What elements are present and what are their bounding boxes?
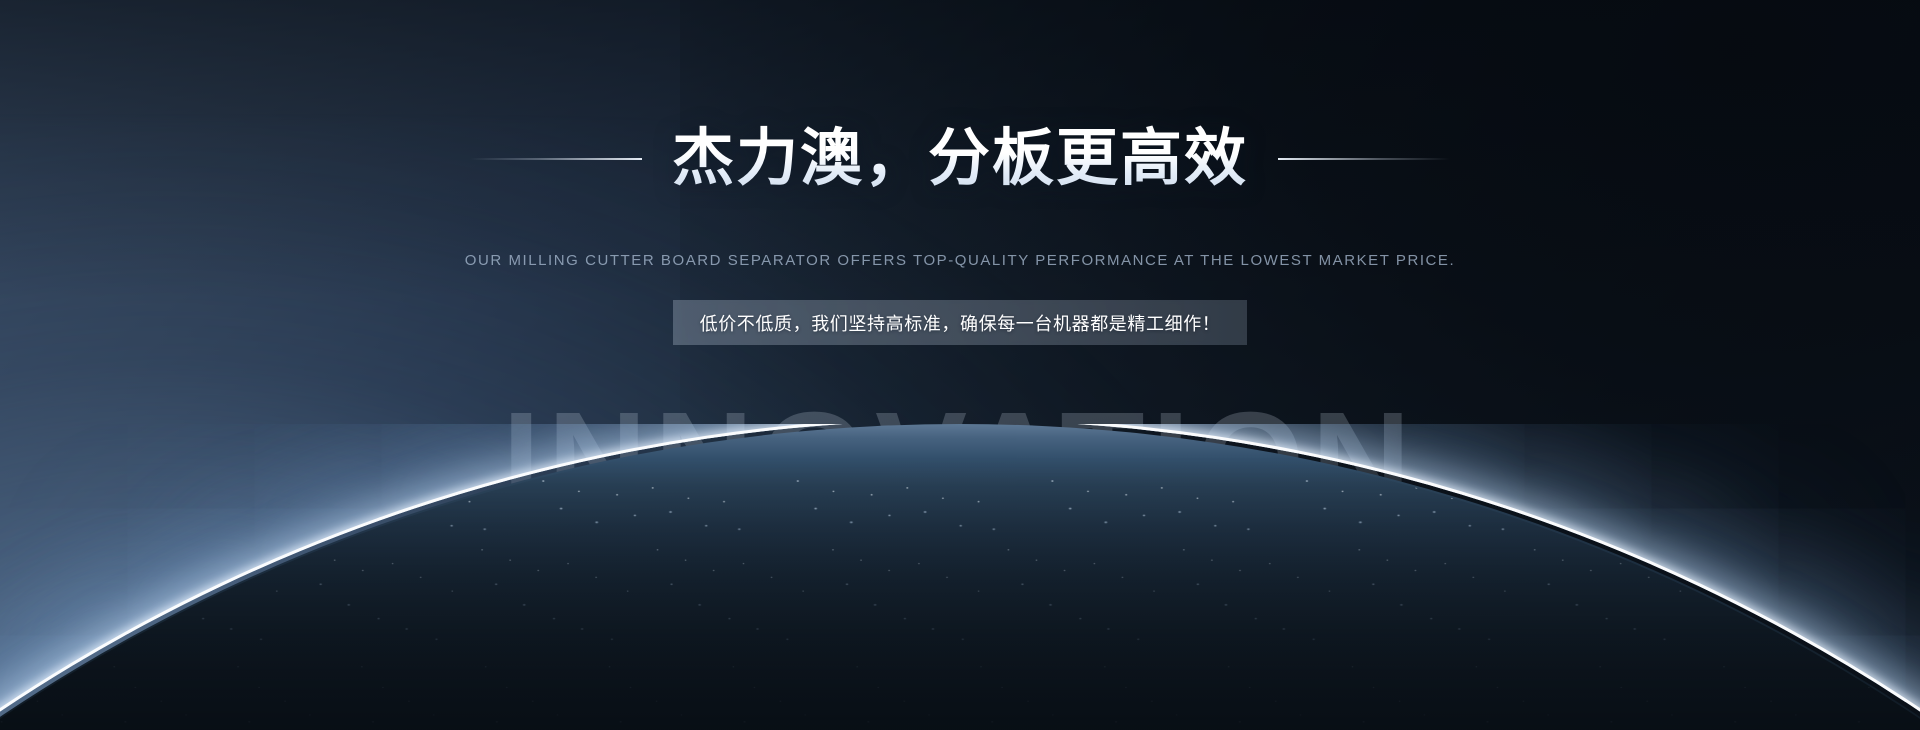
hero-subtitle: OUR MILLING CUTTER BOARD SEPARATOR OFFER…: [0, 252, 1920, 269]
decorative-rule-right-icon: [1278, 158, 1450, 160]
decorative-rule-left-icon: [470, 158, 642, 160]
tagline-banner: 低价不低质，我们坚持高标准，确保每一台机器都是精工细作！: [673, 300, 1247, 345]
headline-row: 杰力澳，分板更高效: [0, 124, 1920, 193]
hero-banner: INNOVATION 杰力澳，分板更高效 OUR MILLING CUTTER …: [0, 0, 1920, 730]
tagline-text: 低价不低质，我们坚持高标准，确保每一台机器都是精工细作！: [700, 310, 1221, 336]
page-title: 杰力澳，分板更高效: [672, 124, 1248, 193]
hero-content: 杰力澳，分板更高效 OUR MILLING CUTTER BOARD SEPAR…: [0, 0, 1920, 730]
